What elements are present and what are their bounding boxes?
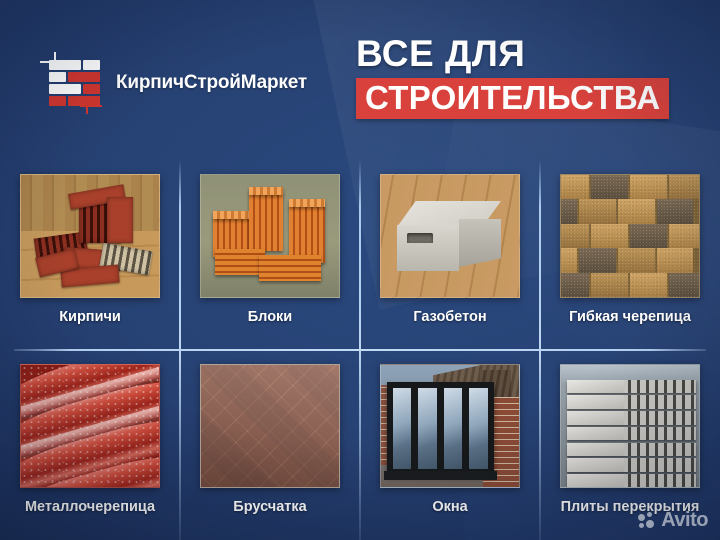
product-cell-shingles[interactable]: Гибкая черепица xyxy=(540,160,720,350)
hollow-core-slabs-photo xyxy=(560,364,700,488)
advertisement-poster: КирпичСтройМаркет ВСЕ ДЛЯ СТРОИТЕЛЬСТВА xyxy=(0,0,720,540)
brick-wall-logo-icon xyxy=(40,52,102,114)
poster-header: КирпичСтройМаркет ВСЕ ДЛЯ СТРОИТЕЛЬСТВА xyxy=(0,0,720,160)
aerated-concrete-block-photo xyxy=(380,174,520,298)
headline-line-1: ВСЕ ДЛЯ xyxy=(356,36,686,72)
headline: ВСЕ ДЛЯ СТРОИТЕЛЬСТВА xyxy=(356,36,686,119)
paving-stones-photo xyxy=(200,364,340,488)
product-cell-bricks[interactable]: Кирпичи xyxy=(0,160,180,350)
windows-photo xyxy=(380,364,520,488)
flexible-shingles-photo xyxy=(560,174,700,298)
product-cell-aerated-concrete[interactable]: Газобетон xyxy=(360,160,540,350)
product-label: Газобетон xyxy=(413,309,486,325)
bricks-photo xyxy=(20,174,160,298)
product-label: Металлочерепица xyxy=(25,499,155,515)
brand-name: КирпичСтройМаркет xyxy=(116,72,307,94)
avito-watermark: Avito xyxy=(638,509,708,532)
product-label: Брусчатка xyxy=(233,499,306,515)
product-cell-metal-tile[interactable]: Металлочерепица xyxy=(0,350,180,540)
product-label: Окна xyxy=(432,499,467,515)
headline-banner: СТРОИТЕЛЬСТВА xyxy=(356,78,669,119)
avito-wordmark: Avito xyxy=(661,509,708,532)
product-label: Блоки xyxy=(248,309,292,325)
product-cell-paving[interactable]: Брусчатка xyxy=(180,350,360,540)
brand-block: КирпичСтройМаркет xyxy=(40,52,307,114)
ceramic-blocks-photo xyxy=(200,174,340,298)
product-label: Гибкая черепица xyxy=(569,309,691,325)
metal-roof-tile-photo xyxy=(20,364,160,488)
product-cell-blocks[interactable]: Блоки xyxy=(180,160,360,350)
product-grid: Кирпичи Блоки Газобе xyxy=(0,160,720,540)
headline-line-2: СТРОИТЕЛЬСТВА xyxy=(365,81,660,114)
product-cell-windows[interactable]: Окна xyxy=(360,350,540,540)
product-label: Кирпичи xyxy=(59,309,121,325)
avito-dots-icon xyxy=(638,512,656,530)
